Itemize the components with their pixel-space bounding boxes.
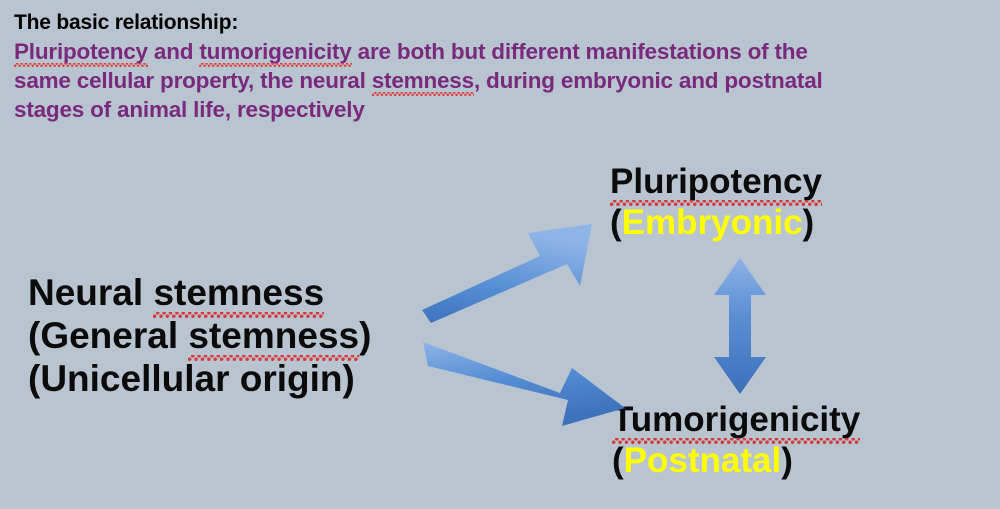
header-word-tumorigenicity: tumorigenicity bbox=[199, 37, 351, 66]
node-tumorigenicity-paren-close: ) bbox=[781, 441, 793, 480]
node-pluripotency-paren-close: ) bbox=[803, 203, 815, 242]
node-neural-line-2: (General stemness) bbox=[28, 315, 371, 358]
node-pluripotency-subtitle-row: (Embryonic) bbox=[610, 203, 822, 244]
node-tumorigenicity-paren-open: ( bbox=[612, 441, 624, 480]
header-word-pluripotency: Pluripotency bbox=[14, 37, 148, 66]
node-pluripotency: Pluripotency (Embryonic) bbox=[610, 162, 822, 243]
header-body-line-1: Pluripotency and tumorigenicity are both… bbox=[14, 37, 989, 66]
node-neural-line1-prefix: Neural bbox=[28, 272, 153, 313]
node-tumorigenicity-title-row: Tumorigenicity bbox=[612, 400, 860, 441]
node-tumorigenicity-subtitle-row: (Postnatal) bbox=[612, 441, 860, 482]
node-tumorigenicity-subtitle: Postnatal bbox=[624, 441, 782, 480]
node-neural-line2-prefix: (General bbox=[28, 315, 188, 356]
node-pluripotency-title-row: Pluripotency bbox=[610, 162, 822, 203]
node-tumorigenicity: Tumorigenicity (Postnatal) bbox=[612, 400, 860, 481]
node-pluripotency-paren-open: ( bbox=[610, 203, 622, 242]
node-pluripotency-title: Pluripotency bbox=[610, 162, 822, 203]
arrow-neural-to-tumorigenicity-icon bbox=[420, 330, 635, 430]
header-line1-tail: are both but different manifestations of… bbox=[352, 39, 808, 64]
node-neural-line2-word-stemness: stemness bbox=[188, 315, 359, 358]
node-neural-line2-suffix: ) bbox=[359, 315, 371, 356]
node-neural-line1-word-stemness: stemness bbox=[153, 272, 324, 315]
header-line2-tail: , during embryonic and postnatal bbox=[474, 68, 823, 93]
header-text-block: The basic relationship: Pluripotency and… bbox=[14, 8, 989, 124]
header-body-line-3: stages of animal life, respectively bbox=[14, 95, 989, 124]
slide-canvas: The basic relationship: Pluripotency and… bbox=[0, 0, 1000, 509]
node-pluripotency-subtitle: Embryonic bbox=[622, 203, 803, 242]
header-text-and: and bbox=[148, 39, 200, 64]
node-neural-stemness: Neural stemness (General stemness) (Unic… bbox=[28, 272, 371, 401]
arrow-pluripotency-tumorigenicity-bidirectional-icon bbox=[702, 255, 778, 397]
header-word-stemness: stemness bbox=[372, 66, 474, 95]
node-neural-line-1: Neural stemness bbox=[28, 272, 371, 315]
node-neural-line-3: (Unicellular origin) bbox=[28, 358, 371, 401]
header-line2-head: same cellular property, the neural bbox=[14, 68, 372, 93]
arrow-neural-to-pluripotency-icon bbox=[420, 222, 610, 327]
header-body-line-2: same cellular property, the neural stemn… bbox=[14, 66, 989, 95]
header-title: The basic relationship: bbox=[14, 8, 989, 37]
node-tumorigenicity-title: Tumorigenicity bbox=[612, 400, 860, 441]
